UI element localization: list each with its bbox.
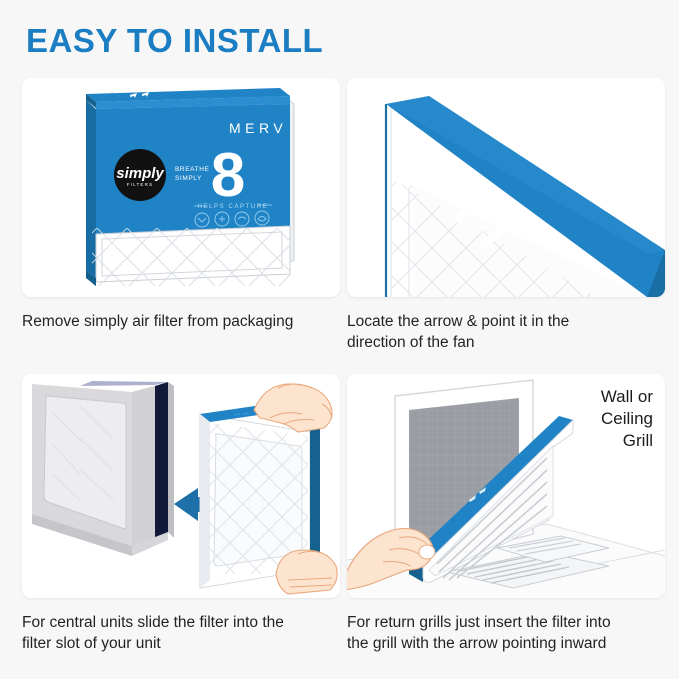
steps-grid: simply FILTERS BREATHE SIMPLY MERV 8 HEL…	[0, 78, 679, 678]
easy-to-install-infographic: EASY TO INSTALL	[0, 0, 679, 679]
caption-line: filter slot of your unit	[22, 633, 340, 654]
step-4-image: Wall or Ceiling Grill	[347, 374, 665, 598]
caption-line: For return grills just insert the filter…	[347, 612, 665, 633]
page-title: EASY TO INSTALL	[26, 24, 323, 57]
step-2-image	[347, 78, 665, 297]
step-1: simply FILTERS BREATHE SIMPLY MERV 8 HEL…	[22, 78, 340, 332]
caption-line: direction of the fan	[347, 332, 665, 353]
step-4: Wall or Ceiling Grill For return grills …	[347, 374, 665, 655]
caption-line: For central units slide the filter into …	[22, 612, 340, 633]
caption-line: Locate the arrow & point it in the	[347, 311, 665, 332]
wall-or-ceiling-grill-label: Wall or Ceiling Grill	[601, 386, 653, 451]
label-line: Wall or	[601, 386, 653, 408]
tagline-line-2: SIMPLY	[175, 175, 202, 182]
filter-slot	[155, 382, 168, 540]
step-2: Locate the arrow & point it in the direc…	[347, 78, 665, 354]
step-4-caption: For return grills just insert the filter…	[347, 612, 665, 655]
caption-line: the grill with the arrow pointing inward	[347, 633, 665, 654]
hvac-unit	[32, 381, 174, 556]
brand-name: simply	[116, 165, 164, 182]
step-2-caption: Locate the arrow & point it in the direc…	[347, 311, 665, 354]
label-line: Grill	[601, 430, 653, 452]
label-line: Ceiling	[601, 408, 653, 430]
step-1-caption: Remove simply air filter from packaging	[22, 311, 340, 332]
tagline-line-1: BREATHE	[175, 166, 209, 173]
package-window-bottom	[92, 226, 297, 288]
caption-line: Remove simply air filter from packaging	[22, 311, 340, 332]
package-front-face: simply FILTERS BREATHE SIMPLY MERV 8 HEL…	[96, 104, 290, 234]
filter-package-illustration: simply FILTERS BREATHE SIMPLY MERV 8 HEL…	[22, 78, 340, 297]
step-1-image: simply FILTERS BREATHE SIMPLY MERV 8 HEL…	[22, 78, 340, 297]
merv-value: 8	[211, 141, 245, 210]
central-unit-illustration	[22, 374, 340, 598]
step-3-caption: For central units slide the filter into …	[22, 612, 340, 655]
hand-bottom	[276, 550, 337, 594]
step-3: For central units slide the filter into …	[22, 374, 340, 655]
merv-label: MERV	[229, 120, 287, 136]
helps-capture-label: HELPS CAPTURE	[198, 204, 269, 210]
step-3-image	[22, 374, 340, 598]
brand-subtitle: FILTERS	[127, 182, 154, 187]
airflow-arrow-illustration	[347, 78, 665, 297]
